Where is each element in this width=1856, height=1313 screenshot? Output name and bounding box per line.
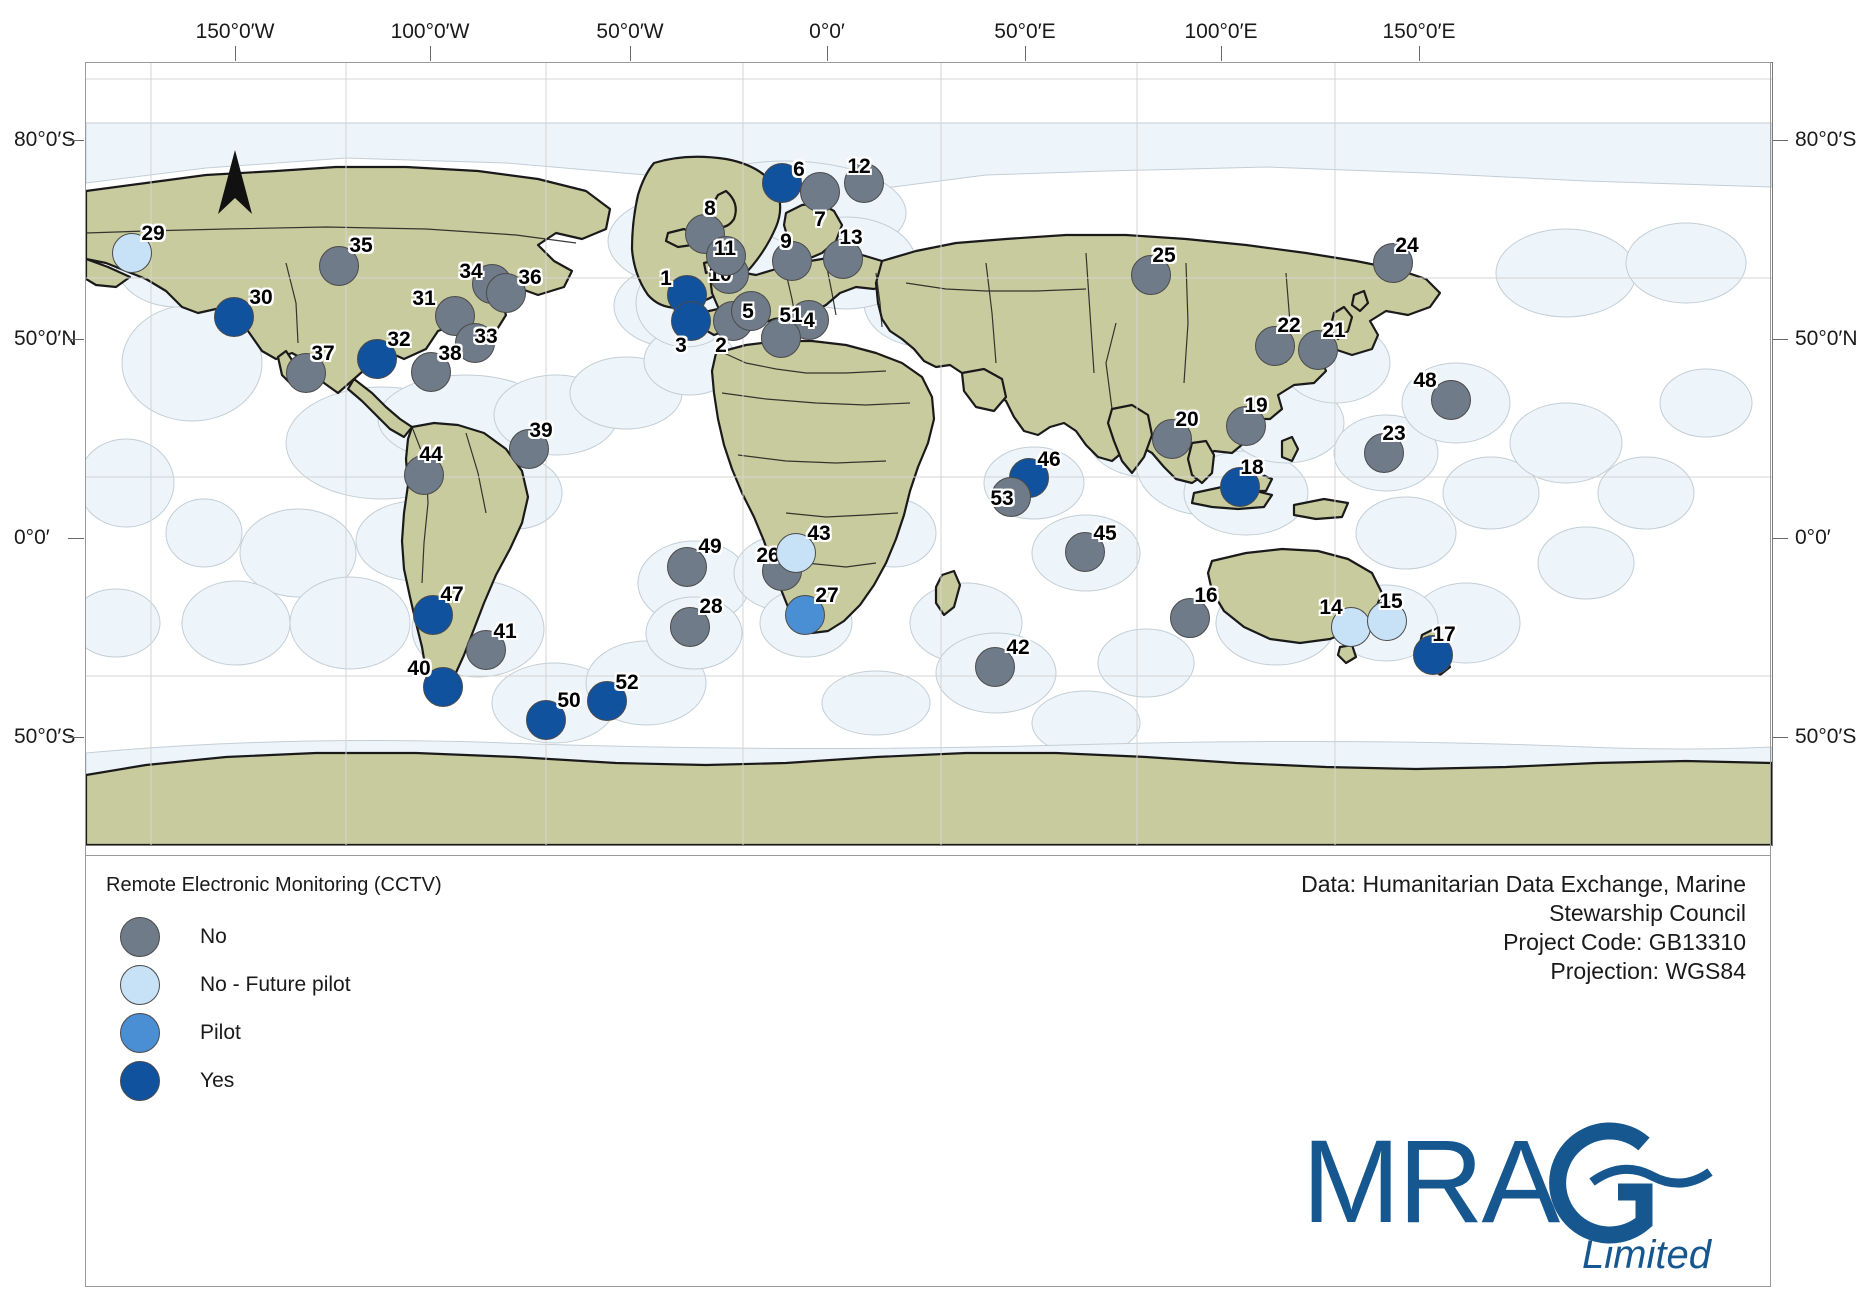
map-marker-label-14: 14 <box>1319 596 1342 620</box>
map-marker-label-23: 23 <box>1382 422 1405 446</box>
legend: Remote Electronic Monitoring (CCTV) NoNo… <box>106 874 442 1105</box>
map-marker-label-18: 18 <box>1240 456 1263 480</box>
map-marker-label-25: 25 <box>1152 244 1175 268</box>
map-marker-label-4: 4 <box>803 309 815 333</box>
map-marker-label-9: 9 <box>780 230 792 254</box>
map-marker-label-16: 16 <box>1194 584 1217 608</box>
latitude-label: 50°0′N <box>1795 327 1856 351</box>
map-marker-7[interactable] <box>800 172 840 212</box>
longitude-tick <box>430 46 431 61</box>
legend-rows: NoNo - Future pilotPilotYes <box>106 913 442 1105</box>
map-marker-label-46: 46 <box>1037 448 1060 472</box>
map-marker-label-11: 11 <box>714 237 736 261</box>
map-marker-label-49: 49 <box>698 535 721 559</box>
legend-swatch-pilot <box>120 1013 160 1053</box>
map-figure: 150°0′W100°0′W50°0′W0°0′50°0′E100°0′E150… <box>0 0 1856 1313</box>
map-marker-label-8: 8 <box>704 197 716 221</box>
map-marker-label-36: 36 <box>518 266 541 290</box>
map-marker-label-52: 52 <box>615 671 638 695</box>
credit-line-source: Stewarship Council <box>1301 899 1746 928</box>
map-marker-label-20: 20 <box>1175 408 1198 432</box>
longitude-label: 100°0′E <box>1184 20 1257 44</box>
map-marker-label-42: 42 <box>1006 636 1029 660</box>
longitude-tick <box>1419 46 1420 61</box>
longitude-label: 100°0′W <box>391 20 470 44</box>
map-marker-label-51: 51 <box>779 304 802 328</box>
longitude-label: 150°0′W <box>196 20 275 44</box>
logo-subtitle: Limited <box>1582 1233 1713 1277</box>
longitude-tick <box>827 46 828 61</box>
credits-block: Data: Humanitarian Data Exchange, Marine… <box>1301 870 1746 986</box>
world-map-svg <box>86 63 1772 845</box>
map-marker-label-29: 29 <box>141 222 164 246</box>
map-marker-label-38: 38 <box>438 342 461 366</box>
map-marker-label-41: 41 <box>493 620 516 644</box>
latitude-tick <box>68 538 84 539</box>
map-marker-label-33: 33 <box>474 325 497 349</box>
longitude-label: 0°0′ <box>809 20 845 44</box>
legend-item-no-future-pilot[interactable]: No - Future pilot <box>106 961 442 1009</box>
map-marker-label-45: 45 <box>1093 522 1116 546</box>
map-marker-label-6: 6 <box>793 158 805 182</box>
map-marker-label-15: 15 <box>1379 590 1402 614</box>
map-marker-label-13: 13 <box>839 226 862 250</box>
map-marker-label-2: 2 <box>715 334 727 358</box>
legend-swatch-no <box>120 917 160 957</box>
longitude-label: 150°0′E <box>1382 20 1455 44</box>
latitude-tick <box>1772 339 1788 340</box>
map-marker-30[interactable] <box>214 297 254 337</box>
map-marker-label-44: 44 <box>419 443 442 467</box>
north-arrow-icon <box>212 148 258 218</box>
longitude-label: 50°0′E <box>994 20 1055 44</box>
map-marker-label-32: 32 <box>387 328 410 352</box>
map-marker-label-1: 1 <box>660 267 672 291</box>
legend-swatch-yes <box>120 1061 160 1101</box>
map-marker-label-22: 22 <box>1277 314 1300 338</box>
latitude-tick <box>1772 140 1788 141</box>
map-marker-label-53: 53 <box>990 487 1013 511</box>
map-marker-label-35: 35 <box>349 234 372 258</box>
map-marker-label-48: 48 <box>1413 369 1436 393</box>
map-marker-label-37: 37 <box>311 342 334 366</box>
map-marker-label-34: 34 <box>459 260 482 284</box>
latitude-tick <box>1772 737 1788 738</box>
legend-item-yes[interactable]: Yes <box>106 1057 442 1105</box>
longitude-label: 50°0′W <box>596 20 663 44</box>
map-marker-label-3: 3 <box>675 334 687 358</box>
map-marker-label-39: 39 <box>529 419 552 443</box>
map-canvas[interactable]: 1234567891011121314151617181920212223242… <box>85 62 1773 846</box>
legend-item-pilot[interactable]: Pilot <box>106 1009 442 1057</box>
longitude-tick <box>1221 46 1222 61</box>
map-marker-48[interactable] <box>1431 380 1471 420</box>
map-marker-label-27: 27 <box>815 584 838 608</box>
map-marker-label-43: 43 <box>807 522 830 546</box>
legend-item-no[interactable]: No <box>106 913 442 961</box>
legend-label: No - Future pilot <box>200 973 351 997</box>
legend-title: Remote Electronic Monitoring (CCTV) <box>106 874 442 897</box>
legend-panel: Remote Electronic Monitoring (CCTV) NoNo… <box>85 855 1771 1287</box>
latitude-label: 0°0′ <box>1795 526 1831 550</box>
map-marker-label-5: 5 <box>742 300 754 324</box>
longitude-tick <box>235 46 236 61</box>
credit-line-projection: Projection: WGS84 <box>1301 957 1746 986</box>
map-marker-label-7: 7 <box>814 208 826 232</box>
latitude-label: 50°0′S <box>14 725 75 749</box>
latitude-label: 0°0′ <box>14 526 50 550</box>
mrag-logo: MRA Limited <box>1292 1118 1752 1278</box>
legend-swatch-no-future-pilot <box>120 965 160 1005</box>
map-marker-label-21: 21 <box>1322 319 1345 343</box>
latitude-label: 80°0′S <box>14 128 75 152</box>
legend-label: Yes <box>200 1069 234 1093</box>
map-marker-label-50: 50 <box>557 689 580 713</box>
legend-label: No <box>200 925 227 949</box>
logo-wordmark: MRA <box>1302 1118 1561 1248</box>
longitude-tick <box>1025 46 1026 61</box>
latitude-tick <box>1772 538 1788 539</box>
map-marker-label-31: 31 <box>412 287 435 311</box>
latitude-tick <box>68 737 84 738</box>
map-marker-label-17: 17 <box>1432 623 1455 647</box>
latitude-label: 50°0′S <box>1795 725 1856 749</box>
credit-line-data: Data: Humanitarian Data Exchange, Marine <box>1301 870 1746 899</box>
latitude-label: 80°0′S <box>1795 128 1856 152</box>
map-marker-label-24: 24 <box>1395 234 1418 258</box>
latitude-tick <box>68 339 84 340</box>
latitude-tick <box>68 140 84 141</box>
longitude-tick <box>630 46 631 61</box>
map-marker-label-47: 47 <box>440 583 463 607</box>
map-marker-label-30: 30 <box>249 286 272 310</box>
credit-line-project-code: Project Code: GB13310 <box>1301 928 1746 957</box>
legend-label: Pilot <box>200 1021 241 1045</box>
map-marker-label-19: 19 <box>1244 394 1267 418</box>
map-marker-label-40: 40 <box>407 657 430 681</box>
map-marker-label-12: 12 <box>847 155 870 179</box>
map-marker-label-28: 28 <box>699 595 722 619</box>
